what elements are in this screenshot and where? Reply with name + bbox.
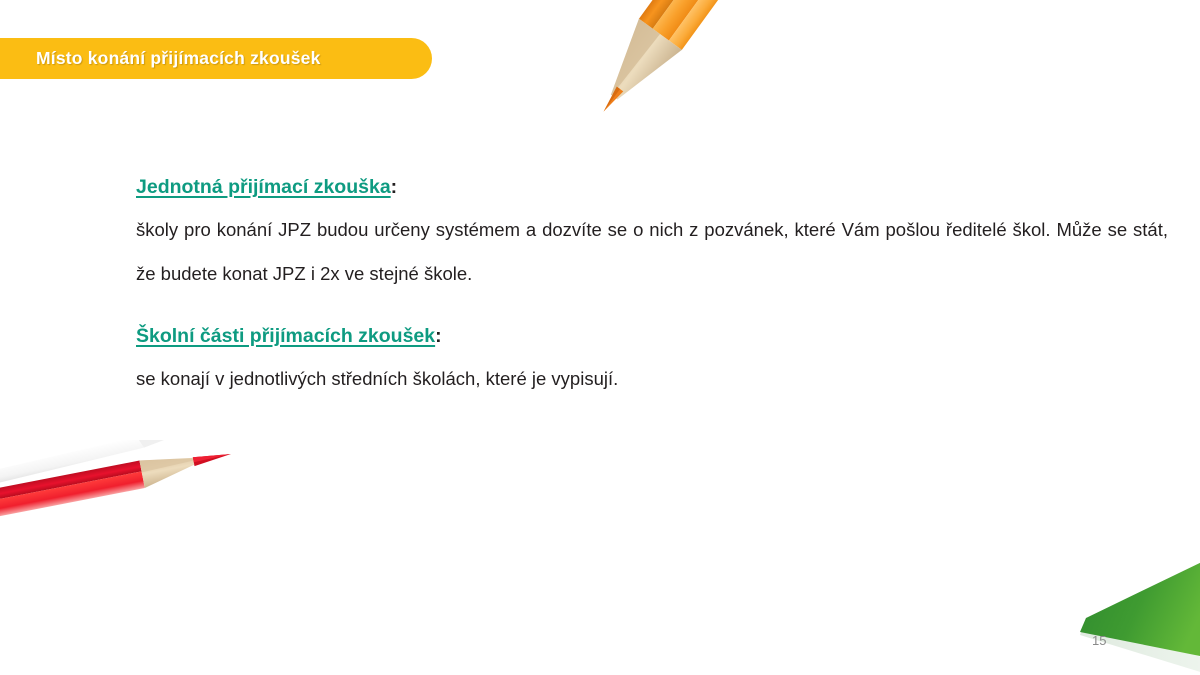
section-1-heading-text: Jednotná přijímací zkouška bbox=[136, 176, 391, 198]
slide-title: Místo konání přijímacích zkoušek bbox=[36, 48, 321, 69]
green-ribbon-decoration bbox=[1020, 540, 1200, 675]
orange-pencil-decoration bbox=[560, 0, 760, 164]
slide-body-content: Jednotná přijímací zkouška: školy pro ko… bbox=[136, 175, 1168, 401]
slide-canvas: Místo konání přijímacích zkoušek Jednotn… bbox=[0, 0, 1200, 675]
section-2-paragraph: se konají v jednotlivých středních školá… bbox=[136, 357, 1168, 401]
slide-number: 15 bbox=[1092, 633, 1106, 648]
section-1-heading: Jednotná přijímací zkouška: bbox=[136, 175, 1168, 200]
slide-title-banner: Místo konání přijímacích zkoušek bbox=[0, 38, 432, 79]
section-2-heading-colon: : bbox=[435, 325, 442, 347]
red-pencil-decoration bbox=[0, 440, 260, 550]
section-1-heading-colon: : bbox=[391, 176, 398, 198]
section-2-heading-text: Školní části přijímacích zkoušek bbox=[136, 325, 435, 347]
section-1-paragraph: školy pro konání JPZ budou určeny systém… bbox=[136, 208, 1168, 296]
section-2-heading: Školní části přijímacích zkoušek: bbox=[136, 324, 1168, 349]
section-spacer bbox=[136, 296, 1168, 324]
